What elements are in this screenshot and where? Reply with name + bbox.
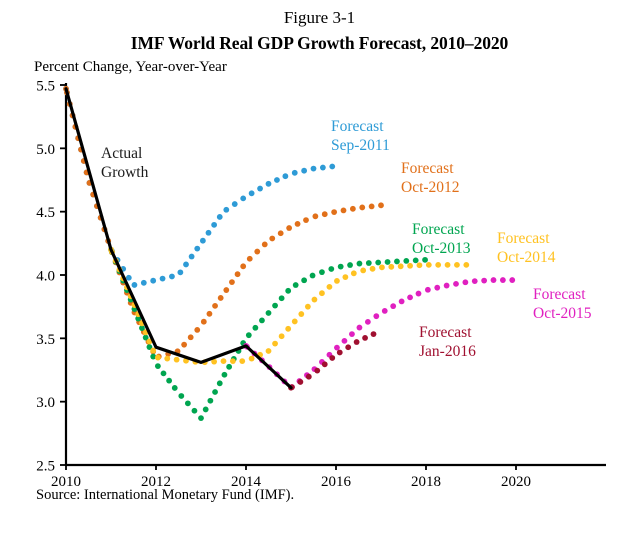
series-label-oct2013-line2: Oct-2013 [412,240,471,257]
figure-container: Figure 3-1 IMF World Real GDP Growth For… [0,0,639,543]
series-label-actual-line1: Actual [101,145,142,162]
x-tick-label: 2014 [231,474,262,490]
chart-canvas: 2.53.03.54.04.55.05.5 201020122014201620… [0,0,639,543]
series-label-oct2015-line1: Forecast [533,286,586,303]
x-tick-label: 2018 [411,474,441,490]
series-forecast-jan-2016 [288,331,376,390]
x-tick-labels: 201020122014201620182020 [51,474,531,490]
series-label-oct2014-line1: Forecast [497,230,550,247]
series-label-sep2011-line1: Forecast [331,118,384,135]
series-forecast-oct-2013 [108,247,428,421]
x-tick-label: 2020 [501,474,531,490]
series-forecast-sep-2011 [63,86,335,288]
x-tick-label: 2012 [141,474,171,490]
series-label-oct2014-line2: Oct-2014 [497,249,556,266]
series-label-oct2012-line2: Oct-2012 [401,179,460,196]
series-label-jan2016-line1: Forecast [419,324,472,341]
series-forecast-oct-2014 [108,247,469,365]
x-tick-label: 2010 [51,474,81,490]
series-label-actual-line2: Growth [101,164,149,181]
series-label-jan2016-line2: Jan-2016 [419,343,476,360]
series-label-oct2015-line2: Oct-2015 [533,305,592,322]
y-tick-label: 4.5 [36,205,55,221]
series-label-oct2012-line1: Forecast [401,160,454,177]
y-tick-label: 5.0 [36,142,55,158]
series-label-sep2011-line2: Sep-2011 [331,137,390,154]
y-tick-label: 2.5 [36,459,55,475]
y-tick-label: 4.0 [36,269,55,285]
series-label-oct2013-line1: Forecast [412,221,465,238]
y-tick-label: 3.0 [36,395,55,411]
y-tick-label: 5.5 [36,79,55,95]
series-forecast-oct-2015 [243,277,515,390]
y-tick-label: 3.5 [36,332,55,348]
series-actual-growth [66,89,291,388]
y-tick-labels: 2.53.03.54.04.55.05.5 [36,79,55,475]
x-tick-label: 2016 [321,474,352,490]
